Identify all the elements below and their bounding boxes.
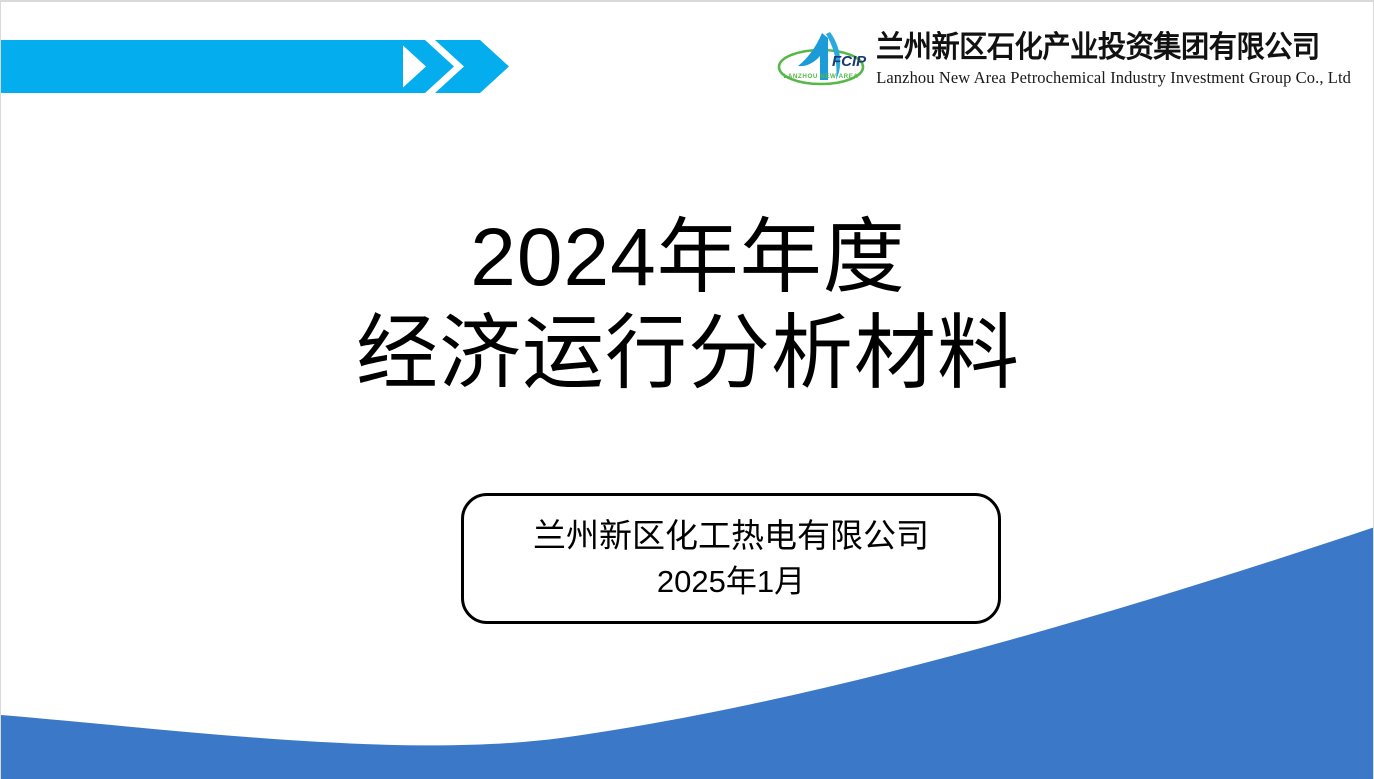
- logo-ring-text: LANZHOU NEW AREA: [784, 73, 859, 80]
- cyan-bar-rect: [1, 40, 403, 93]
- logo-initials-text: FCIP: [832, 53, 867, 70]
- page-title: 2024年年度 经济运行分析材料: [1, 210, 1374, 402]
- company-name-chinese: 兰州新区石化产业投资集团有限公司: [876, 33, 1320, 63]
- fcip-logo-icon: LANZHOU NEW AREA FCIP: [776, 28, 868, 92]
- subtitle-box: 兰州新区化工热电有限公司 2025年1月: [461, 493, 1001, 624]
- presentation-slide: LANZHOU NEW AREA FCIP 兰州新区石化产业投资集团有限公司 L…: [0, 0, 1374, 779]
- logo-text-column: 兰州新区石化产业投资集团有限公司 Lanzhou New Area Petroc…: [876, 33, 1351, 87]
- title-line-2: 经济运行分析材料: [1, 306, 1374, 402]
- title-line-1: 2024年年度: [1, 210, 1374, 306]
- subtitle-company-name: 兰州新区化工热电有限公司: [533, 518, 929, 554]
- company-logo-block: LANZHOU NEW AREA FCIP 兰州新区石化产业投资集团有限公司 L…: [776, 28, 1351, 92]
- company-name-english: Lanzhou New Area Petrochemical Industry …: [876, 70, 1351, 87]
- cyan-accent-bar: [1, 40, 511, 93]
- subtitle-date: 2025年1月: [657, 565, 805, 599]
